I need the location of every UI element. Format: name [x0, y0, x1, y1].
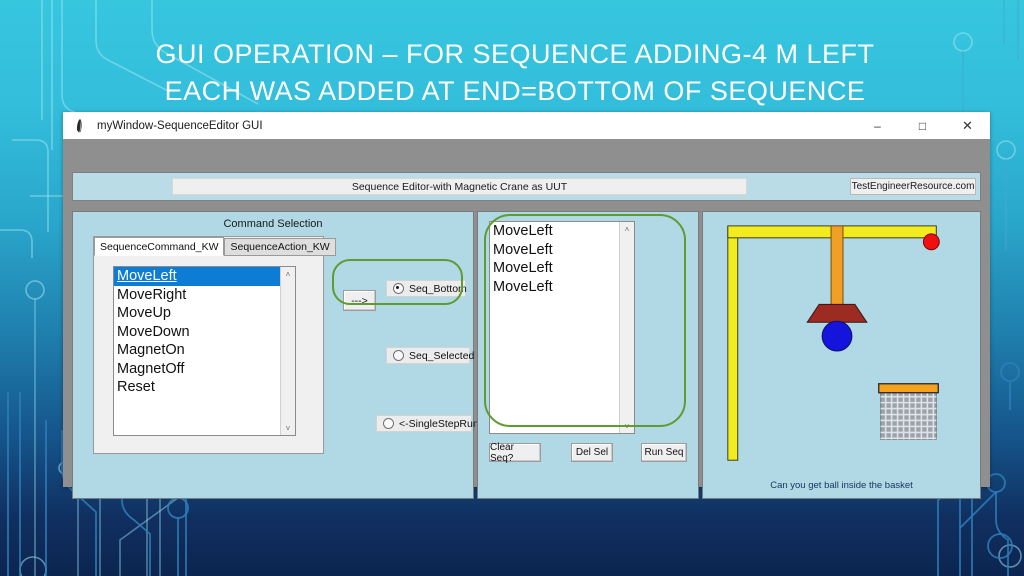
application-window: myWindow-SequenceEditor GUI – □ ✕ Sequen… — [63, 112, 990, 487]
crane-ball — [822, 321, 852, 351]
window-client-area: Sequence Editor-with Magnetic Crane as U… — [63, 139, 990, 487]
list-item[interactable]: MoveLeft — [114, 267, 280, 286]
command-selection-panel: Command Selection SequenceCommand_KW Seq… — [72, 211, 474, 499]
command-tab-control: SequenceCommand_KW SequenceAction_KW Mov… — [93, 236, 324, 454]
scroll-down-icon[interactable]: ˅ — [620, 419, 634, 433]
crane-mast — [728, 227, 738, 460]
command-listbox[interactable]: MoveLeft MoveRight MoveUp MoveDown Magne… — [113, 266, 296, 436]
window-controls: – □ ✕ — [855, 112, 990, 139]
list-item[interactable]: MoveDown — [114, 323, 280, 342]
scroll-up-icon[interactable]: ˄ — [281, 267, 295, 281]
clear-seq-button[interactable]: Clear Seq? — [489, 443, 541, 462]
del-sel-button[interactable]: Del Sel — [571, 443, 613, 462]
command-list-items: MoveLeft MoveRight MoveUp MoveDown Magne… — [114, 267, 280, 397]
radio-single-step-run[interactable]: <-SingleStepRun — [376, 415, 472, 432]
list-item[interactable]: MagnetOff — [114, 360, 280, 379]
sequence-listbox[interactable]: MoveLeft MoveLeft MoveLeft MoveLeft ˄ ˅ — [489, 221, 635, 434]
run-seq-button[interactable]: Run Seq — [641, 443, 687, 462]
list-item[interactable]: MoveLeft — [490, 259, 619, 278]
list-item[interactable]: MoveLeft — [490, 278, 619, 297]
add-to-sequence-button[interactable]: ---> — [343, 290, 376, 311]
list-item[interactable]: MagnetOn — [114, 341, 280, 360]
sequence-panel: MoveLeft MoveLeft MoveLeft MoveLeft ˄ ˅ … — [477, 211, 699, 499]
crane-basket — [879, 384, 939, 440]
radio-seq-bottom-label: Seq_Bottom — [409, 283, 467, 295]
sequence-list-items: MoveLeft MoveLeft MoveLeft MoveLeft — [490, 222, 619, 296]
crane-home-marker — [923, 234, 939, 250]
scroll-down-icon[interactable]: ˅ — [281, 421, 295, 435]
slide-canvas: GUI OPERATION – FOR SEQUENCE ADDING-4 M … — [0, 0, 1024, 576]
slide-title: GUI OPERATION – FOR SEQUENCE ADDING-4 M … — [60, 36, 970, 110]
crane-illustration — [704, 213, 979, 497]
radio-indicator-icon — [393, 350, 404, 361]
list-item[interactable]: Reset — [114, 378, 280, 397]
list-item[interactable]: MoveLeft — [490, 222, 619, 241]
command-selection-title: Command Selection — [73, 218, 473, 230]
tab-sequenceaction-kw[interactable]: SequenceAction_KW — [224, 238, 335, 256]
list-item[interactable]: MoveUp — [114, 304, 280, 323]
radio-seq-bottom[interactable]: Seq_Bottom — [386, 280, 466, 297]
radio-single-step-run-label: <-SingleStepRun — [399, 418, 479, 430]
radio-indicator-icon — [383, 418, 394, 429]
list-item[interactable]: MoveRight — [114, 286, 280, 305]
sequence-list-scrollbar[interactable]: ˄ ˅ — [619, 222, 634, 433]
radio-seq-selected[interactable]: Seq_Selected — [386, 347, 470, 364]
close-button[interactable]: ✕ — [945, 112, 990, 139]
radio-seq-selected-label: Seq_Selected — [409, 350, 474, 362]
title-line-2: EACH WAS ADDED AT END=BOTTOM OF SEQUENCE — [60, 73, 970, 110]
scroll-up-icon[interactable]: ˄ — [620, 222, 634, 236]
window-title-bar[interactable]: myWindow-SequenceEditor GUI – □ ✕ — [63, 112, 990, 140]
tab-strip: SequenceCommand_KW SequenceAction_KW — [94, 237, 323, 256]
command-list-scrollbar[interactable]: ˄ ˅ — [280, 267, 295, 435]
radio-indicator-icon — [393, 283, 404, 294]
crane-magnet — [807, 304, 867, 322]
list-item[interactable]: MoveLeft — [490, 241, 619, 260]
maximize-button[interactable]: □ — [900, 112, 945, 139]
crane-simulation-panel: Can you get ball inside the basket — [702, 211, 981, 499]
minimize-button[interactable]: – — [855, 112, 900, 139]
title-line-1: GUI OPERATION – FOR SEQUENCE ADDING-4 M … — [60, 36, 970, 73]
crane-caption: Can you get ball inside the basket — [703, 480, 980, 491]
app-header-label: Sequence Editor-with Magnetic Crane as U… — [172, 178, 747, 195]
tab-sequencecommand-kw[interactable]: SequenceCommand_KW — [94, 237, 224, 256]
brand-label: TestEngineerResource.com — [850, 178, 976, 195]
python-feather-icon — [71, 116, 91, 136]
window-title: myWindow-SequenceEditor GUI — [97, 120, 263, 132]
